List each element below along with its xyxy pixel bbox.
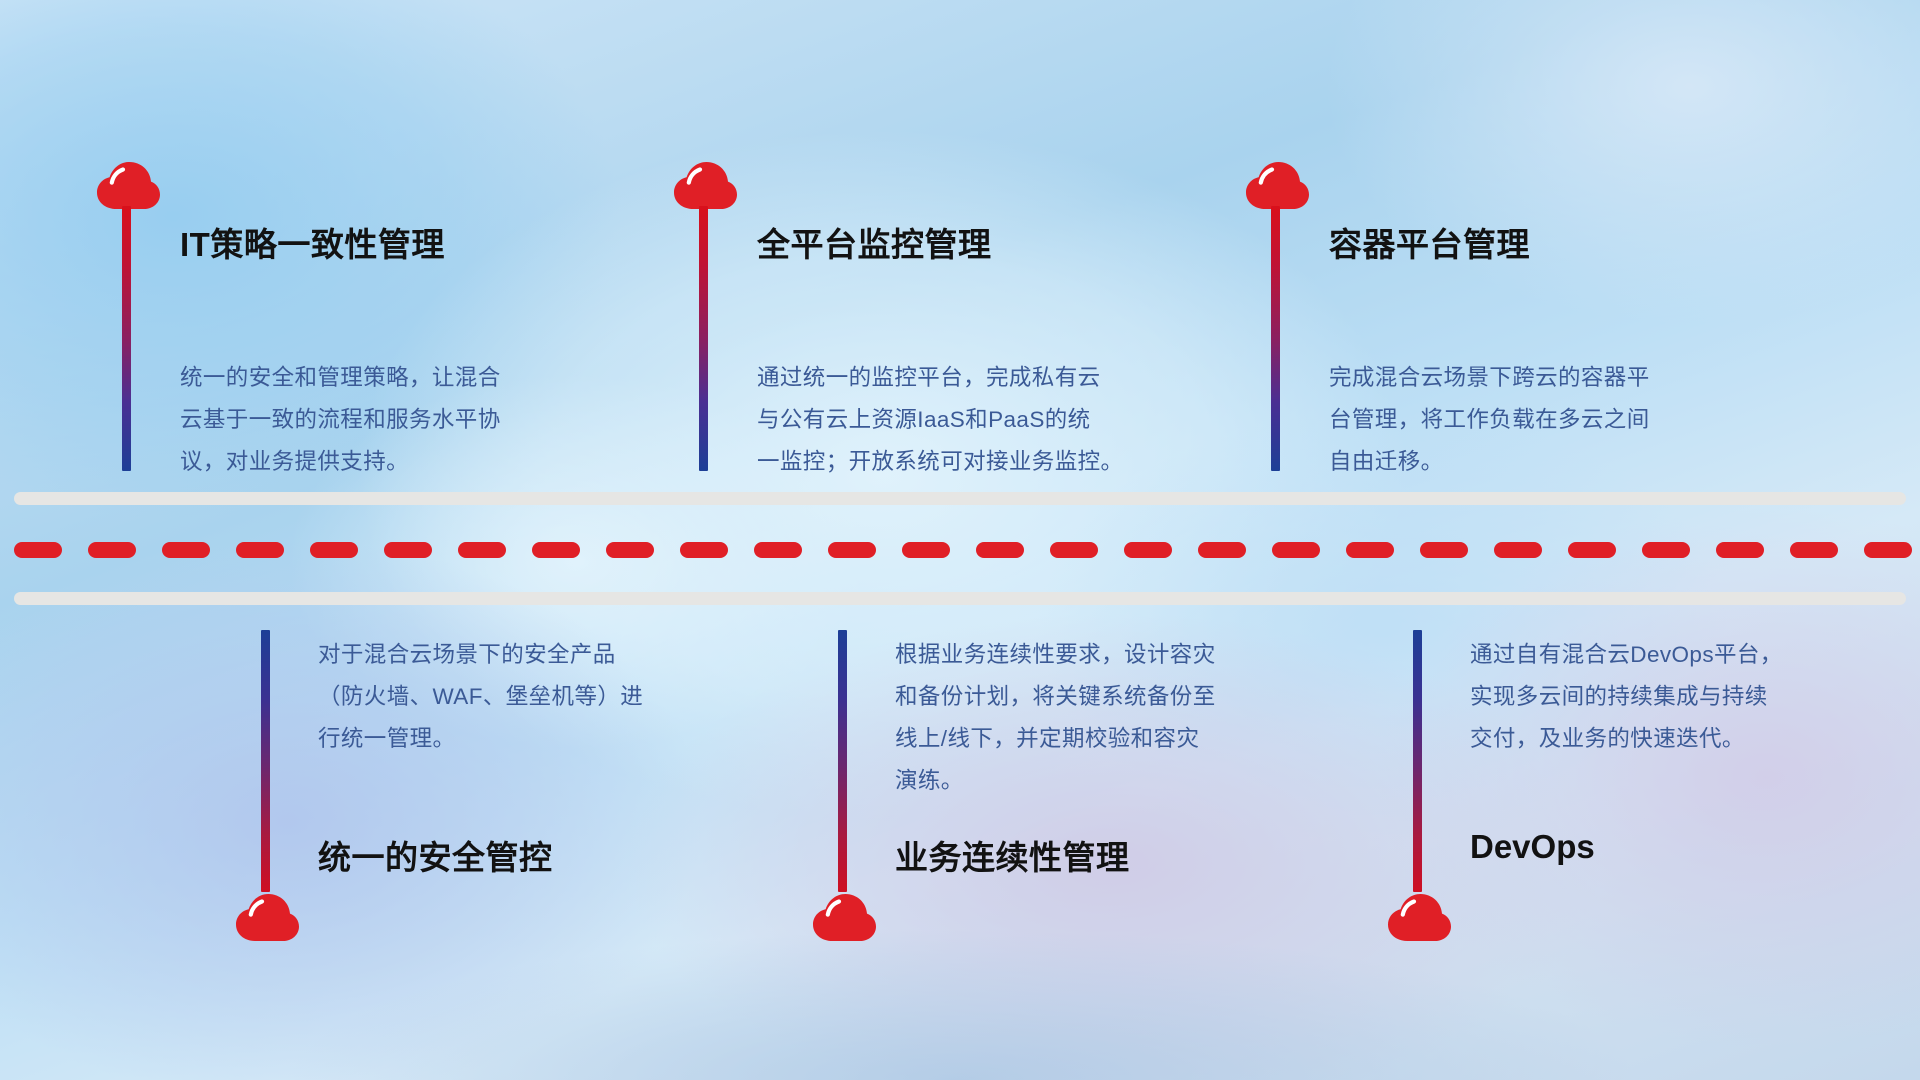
divider-dash <box>14 542 62 558</box>
divider-dash <box>236 542 284 558</box>
divider-dash <box>902 542 950 558</box>
bottom-column-2-body: 根据业务连续性要求，设计容灾 和备份计划，将关键系统备份至 线上/线下，并定期校… <box>895 634 1335 802</box>
divider-dash <box>88 542 136 558</box>
cloud-icon <box>234 892 300 942</box>
divider-dash <box>1272 542 1320 558</box>
divider-dash <box>1568 542 1616 558</box>
bottom-column-1-title: 统一的安全管控 <box>318 831 553 879</box>
divider-dash <box>532 542 580 558</box>
divider-rail-top <box>14 492 1906 505</box>
connector-stem <box>122 206 131 471</box>
divider-dash <box>310 542 358 558</box>
cloud-icon <box>672 160 738 210</box>
divider-dash <box>162 542 210 558</box>
divider-dash <box>680 542 728 558</box>
divider-dash <box>754 542 802 558</box>
cloud-icon <box>1244 160 1310 210</box>
divider-dash <box>458 542 506 558</box>
top-column-1-body: 统一的安全和管理策略，让混合 云基于一致的流程和服务水平协 议，对业务提供支持。 <box>180 357 610 483</box>
divider-dash <box>1050 542 1098 558</box>
top-column-3-title: 容器平台管理 <box>1329 218 1530 266</box>
divider-dash <box>1642 542 1690 558</box>
divider-dash <box>384 542 432 558</box>
bottom-column-3-title: DevOps <box>1470 828 1595 866</box>
divider-dash <box>1198 542 1246 558</box>
connector-stem <box>261 630 270 892</box>
divider-dashed-line <box>0 542 1920 558</box>
top-column-2-title: 全平台监控管理 <box>757 218 992 266</box>
divider-dash <box>1420 542 1468 558</box>
connector-stem <box>838 630 847 892</box>
divider-dash <box>1346 542 1394 558</box>
divider-rail-bottom <box>14 592 1906 605</box>
divider-dash <box>828 542 876 558</box>
connector-stem <box>1271 206 1280 471</box>
connector-stem <box>1413 630 1422 892</box>
bottom-column-1-body: 对于混合云场景下的安全产品 （防火墙、WAF、堡垒机等）进 行统一管理。 <box>318 634 748 760</box>
bottom-column-3-body: 通过自有混合云DevOps平台， 实现多云间的持续集成与持续 交付，及业务的快速… <box>1470 634 1900 760</box>
divider-dash <box>1494 542 1542 558</box>
divider-dash <box>1790 542 1838 558</box>
bottom-column-2-title: 业务连续性管理 <box>895 831 1130 879</box>
cloud-icon <box>811 892 877 942</box>
divider-dash <box>606 542 654 558</box>
connector-stem <box>699 206 708 471</box>
top-column-2-body: 通过统一的监控平台，完成私有云 与公有云上资源IaaS和PaaS的统 一监控；开… <box>757 357 1207 483</box>
top-column-3-body: 完成混合云场景下跨云的容器平 台管理，将工作负载在多云之间 自由迁移。 <box>1329 357 1769 483</box>
divider-dash <box>1864 542 1912 558</box>
infographic-canvas: IT策略一致性管理 统一的安全和管理策略，让混合 云基于一致的流程和服务水平协 … <box>0 0 1920 1080</box>
top-column-1-title: IT策略一致性管理 <box>180 218 445 266</box>
divider-dash <box>1124 542 1172 558</box>
divider-dash <box>976 542 1024 558</box>
cloud-icon <box>1386 892 1452 942</box>
cloud-icon <box>95 160 161 210</box>
divider-dash <box>1716 542 1764 558</box>
